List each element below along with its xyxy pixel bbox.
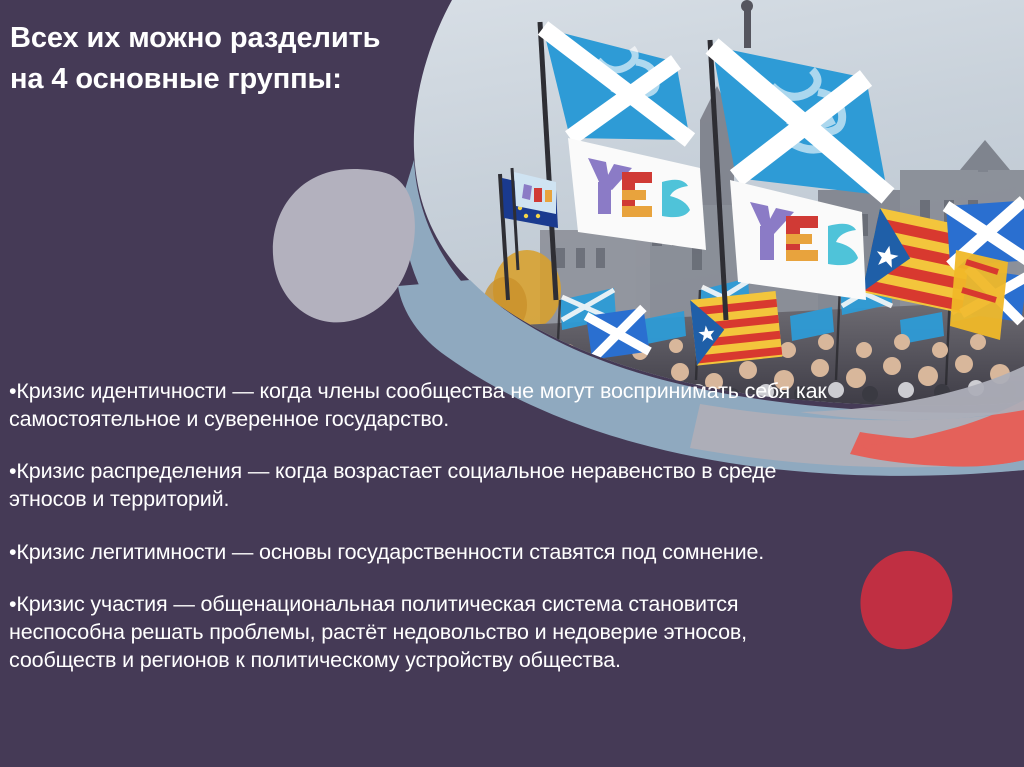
list-item: •Кризис идентичности — когда члены сообщ… (9, 377, 854, 433)
yellow-banner (950, 250, 1008, 340)
bullet-text: Кризис распределения — когда возрастает … (9, 459, 776, 511)
bullet-text: Кризис легитимности — основы государстве… (16, 540, 764, 564)
list-item: •Кризис участия — общенациональная полит… (9, 590, 854, 674)
estelada-flag-mid (690, 291, 782, 366)
bullet-list: •Кризис идентичности — когда члены сообщ… (9, 377, 854, 674)
page-title: Всех их можно разделить на 4 основные гр… (10, 18, 410, 100)
saltire-flag-low-left (586, 308, 650, 360)
list-item: •Кризис распределения — когда возрастает… (9, 457, 854, 513)
list-item: •Кризис легитимности — основы государств… (9, 538, 854, 566)
bullet-text: Кризис идентичности — когда члены сообще… (9, 379, 827, 431)
bullet-text: Кризис участия — общенациональная полити… (9, 592, 747, 672)
presentation-slide: Всех их можно разделить на 4 основные гр… (0, 0, 1024, 767)
